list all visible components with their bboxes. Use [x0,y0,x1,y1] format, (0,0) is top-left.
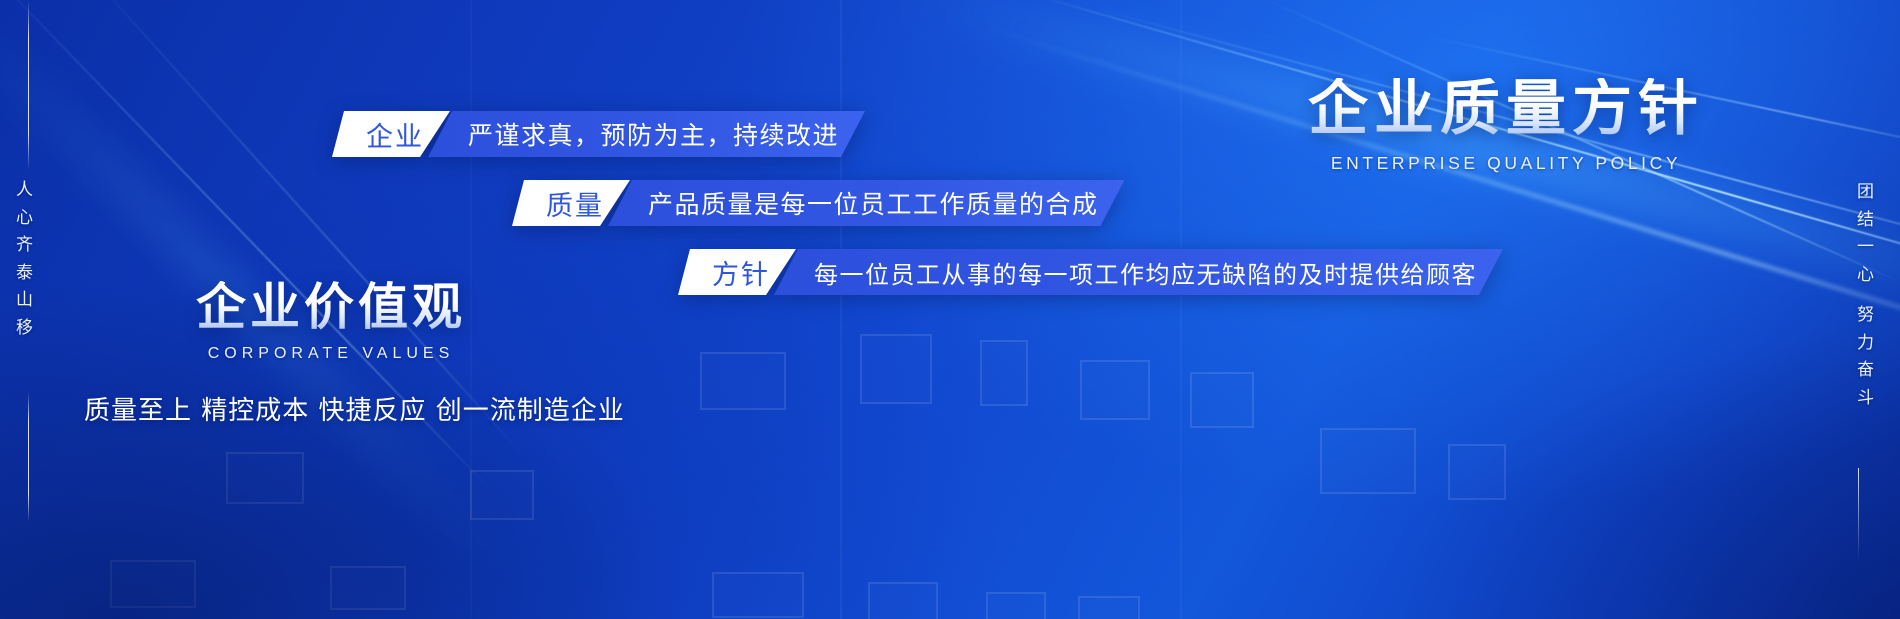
policy-ribbon-quality: 质量 产品质量是每一位员工工作质量的合成 [512,180,1125,226]
ribbon-text: 严谨求真，预防为主，持续改进 [428,111,865,157]
ribbon-text: 每一位员工从事的每一项工作均应无缺陷的及时提供给顾客 [774,249,1503,295]
ribbon-highlight-strip [618,174,1113,180]
right-slogan-char: 一 [1857,233,1874,261]
ribbon-tag-pointer-icon [350,156,370,168]
ribbon-highlight-strip [438,105,853,111]
quality-policy-title-cn: 企业质量方针 [1308,78,1704,141]
right-slogan-char: 力 [1857,329,1874,357]
left-divider-line-bottom [28,392,29,522]
left-slogan-char: 泰 [16,259,33,287]
policy-ribbon-guideline: 方针 每一位员工从事的每一项工作均应无缺陷的及时提供给顾客 [678,249,1503,295]
left-divider-line-top [28,0,29,170]
left-slogan-char: 齐 [16,231,33,259]
right-divider-line [1858,468,1859,560]
right-slogan-char: 团 [1857,178,1874,206]
right-slogan-char: 心 [1857,261,1874,289]
corporate-values-title-en: CORPORATE VALUES [196,345,466,363]
ribbon-highlight-strip [784,243,1491,249]
right-slogan-char: 结 [1857,206,1874,234]
left-slogan-char: 心 [16,204,33,232]
left-vertical-slogan: 人 心 齐 泰 山 移 [16,176,33,341]
right-slogan-char: 奋 [1857,356,1874,384]
left-slogan-char: 人 [16,176,33,204]
left-slogan-char: 移 [16,314,33,342]
quality-policy-heading: 企业质量方针 ENTERPRISE QUALITY POLICY [1308,78,1704,174]
right-vertical-slogan: 团 结 一 心 努 力 奋 斗 [1857,178,1874,411]
ribbon-text: 产品质量是每一位员工工作质量的合成 [608,180,1125,226]
ribbon-tag-pointer-icon [696,294,716,306]
right-slogan-char: 努 [1857,301,1874,329]
left-slogan-char: 山 [16,286,33,314]
policy-ribbon-enterprise: 企业 严谨求真，预防为主，持续改进 [332,111,865,157]
corporate-values-tagline: 质量至上 精控成本 快捷反应 创一流制造企业 [84,390,625,427]
corporate-values-title-cn: 企业价值观 [196,281,466,334]
corporate-values-banner: 人 心 齐 泰 山 移 团 结 一 心 努 力 奋 斗 企业质量方针 ENTER… [0,0,1900,619]
ribbon-tag-pointer-icon [530,225,550,237]
right-slogan-char: 斗 [1857,384,1874,412]
quality-policy-title-en: ENTERPRISE QUALITY POLICY [1308,153,1704,174]
corporate-values-heading: 企业价值观 CORPORATE VALUES [196,281,466,363]
